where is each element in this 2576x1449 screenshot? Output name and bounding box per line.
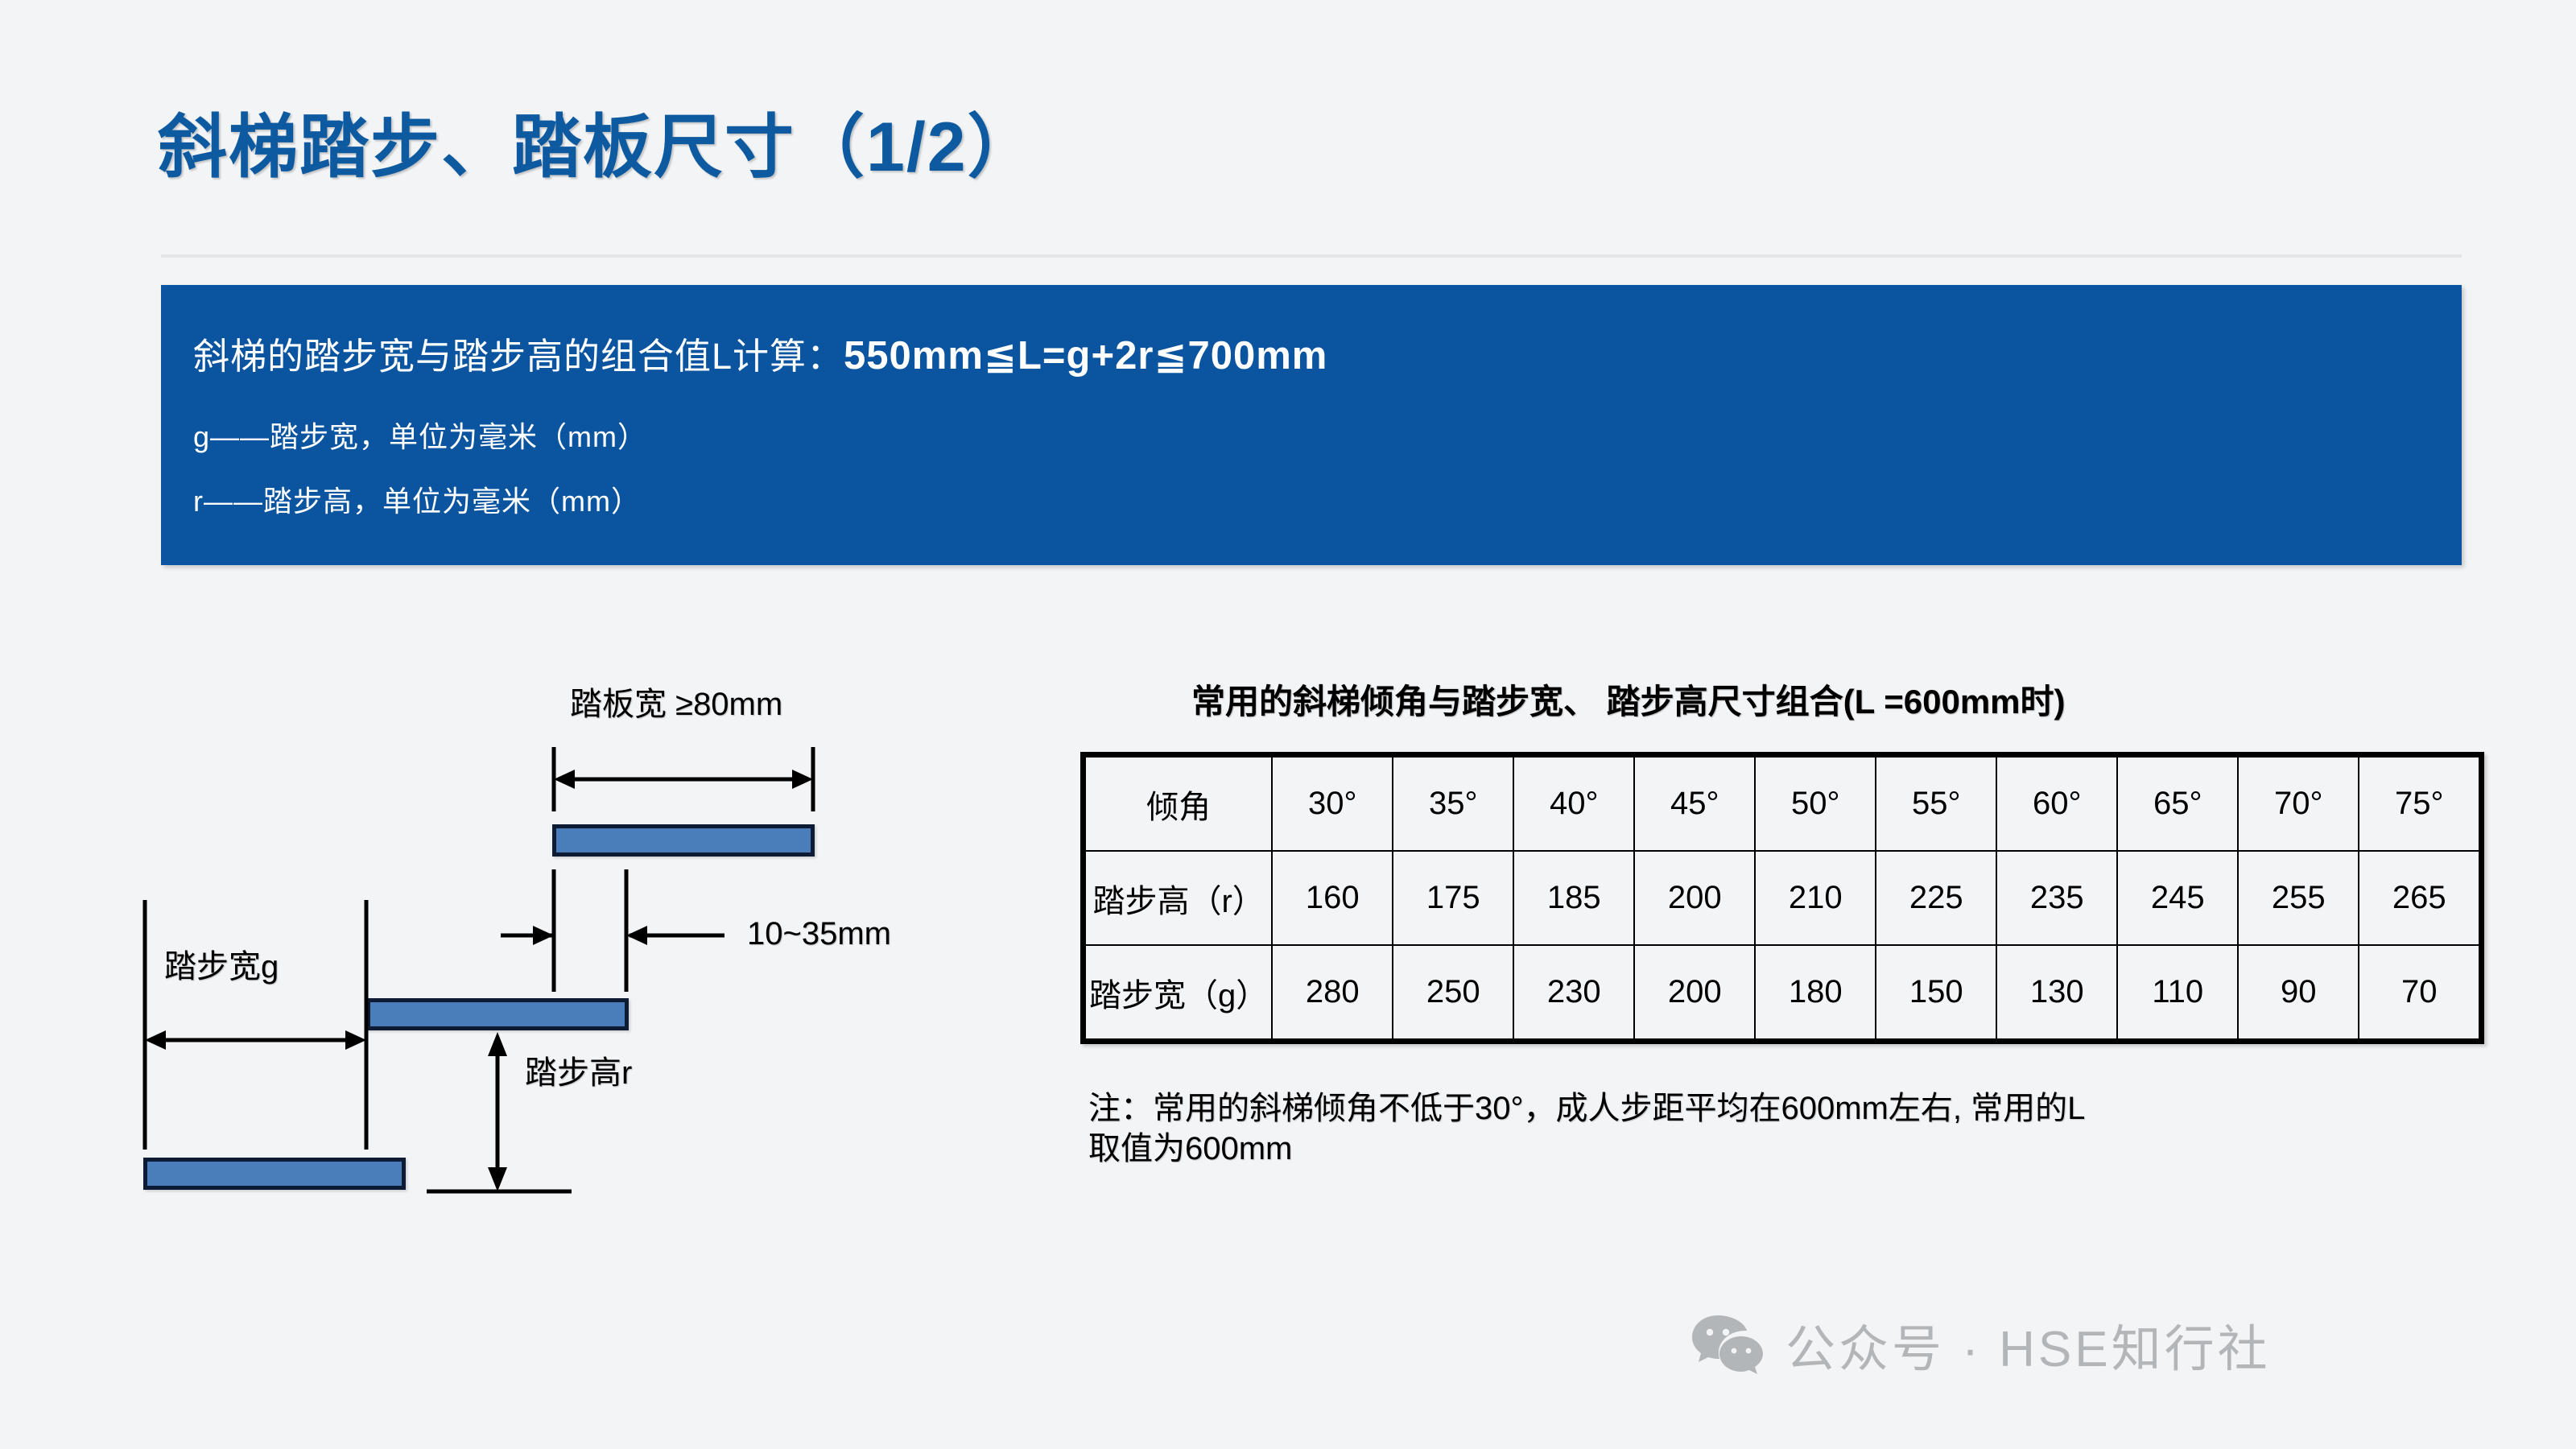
cell-riser-1: 175 (1393, 851, 1513, 945)
banner-formula-line: 斜梯的踏步宽与踏步高的组合值L计算：550mm≦L=g+2r≦700mm (193, 327, 1327, 379)
dimension-combination-table: 倾角 30° 35° 40° 45° 50° 55° 60° 65° 70° 7… (1080, 752, 2484, 1044)
cell-angle-4: 50° (1755, 755, 1876, 852)
page-title: 斜梯踏步、踏板尺寸（1/2） (158, 90, 1038, 191)
dim-label-rise: 踏步高r (525, 1046, 632, 1093)
table-row-riser: 踏步高（r） 160 175 185 200 210 225 235 245 2… (1084, 851, 2482, 945)
cell-riser-5: 225 (1876, 851, 1996, 945)
title-divider (161, 254, 2462, 258)
cell-going-4: 180 (1755, 945, 1876, 1042)
row-header-going: 踏步宽（g） (1084, 945, 1273, 1042)
banner-note-g: g——踏步宽，单位为毫米（mm） (193, 414, 647, 456)
cell-angle-2: 40° (1513, 755, 1634, 852)
formula-lead-text: 斜梯的踏步宽与踏步高的组合值L计算： (193, 336, 844, 377)
cell-riser-0: 160 (1272, 851, 1393, 945)
stair-dimension-diagram: 踏板宽 ≥80mm 10~35mm 踏步宽g 踏步高r (0, 636, 1046, 1280)
cell-riser-8: 255 (2238, 851, 2359, 945)
watermark: 公众号 · HSE知行社 (1690, 1308, 2271, 1381)
cell-going-0: 280 (1272, 945, 1393, 1042)
formula-expression: 550mm≦L=g+2r≦700mm (844, 334, 1327, 378)
cell-going-6: 130 (1996, 945, 2117, 1042)
cell-angle-1: 35° (1393, 755, 1513, 852)
row-header-riser: 踏步高（r） (1084, 851, 1273, 945)
cell-going-2: 230 (1513, 945, 1634, 1042)
cell-riser-3: 200 (1634, 851, 1755, 945)
cell-riser-9: 265 (2359, 851, 2482, 945)
cell-going-1: 250 (1393, 945, 1513, 1042)
cell-angle-7: 65° (2117, 755, 2238, 852)
cell-going-8: 90 (2238, 945, 2359, 1042)
row-header-angle: 倾角 (1084, 755, 1273, 852)
table-row-going: 踏步宽（g） 280 250 230 200 180 150 130 110 9… (1084, 945, 2482, 1042)
cell-angle-5: 55° (1876, 755, 1996, 852)
watermark-text: 公众号 · HSE知行社 (1785, 1308, 2271, 1381)
table-row-angle: 倾角 30° 35° 40° 45° 50° 55° 60° 65° 70° 7… (1084, 755, 2482, 852)
cell-going-5: 150 (1876, 945, 1996, 1042)
wechat-icon (1690, 1312, 1765, 1377)
cell-going-7: 110 (2117, 945, 2238, 1042)
cell-angle-9: 75° (2359, 755, 2482, 852)
cell-riser-4: 210 (1755, 851, 1876, 945)
table-note-line-2: 取值为600mm (1088, 1129, 2449, 1169)
cell-riser-6: 235 (1996, 851, 2117, 945)
banner-note-r: r——踏步高，单位为毫米（mm） (193, 478, 641, 520)
diagram-annotations (0, 636, 1046, 1280)
cell-angle-3: 45° (1634, 755, 1755, 852)
cell-riser-7: 245 (2117, 851, 2238, 945)
dim-label-going: 踏步宽g (164, 940, 279, 987)
dim-label-overlap: 10~35mm (747, 916, 891, 952)
cell-angle-6: 60° (1996, 755, 2117, 852)
cell-going-9: 70 (2359, 945, 2482, 1042)
cell-angle-8: 70° (2238, 755, 2359, 852)
table-note-line-1: 注：常用的斜梯倾角不低于30°，成人步距平均在600mm左右, 常用的L (1088, 1088, 2449, 1129)
table-note: 注：常用的斜梯倾角不低于30°，成人步距平均在600mm左右, 常用的L 取值为… (1088, 1088, 2449, 1169)
formula-banner: 斜梯的踏步宽与踏步高的组合值L计算：550mm≦L=g+2r≦700mm g——… (161, 285, 2462, 565)
cell-angle-0: 30° (1272, 755, 1393, 852)
cell-going-3: 200 (1634, 945, 1755, 1042)
table-title: 常用的斜梯倾角与踏步宽、 踏步高尺寸组合(L =600mm时) (1191, 675, 2066, 724)
cell-riser-2: 185 (1513, 851, 1634, 945)
